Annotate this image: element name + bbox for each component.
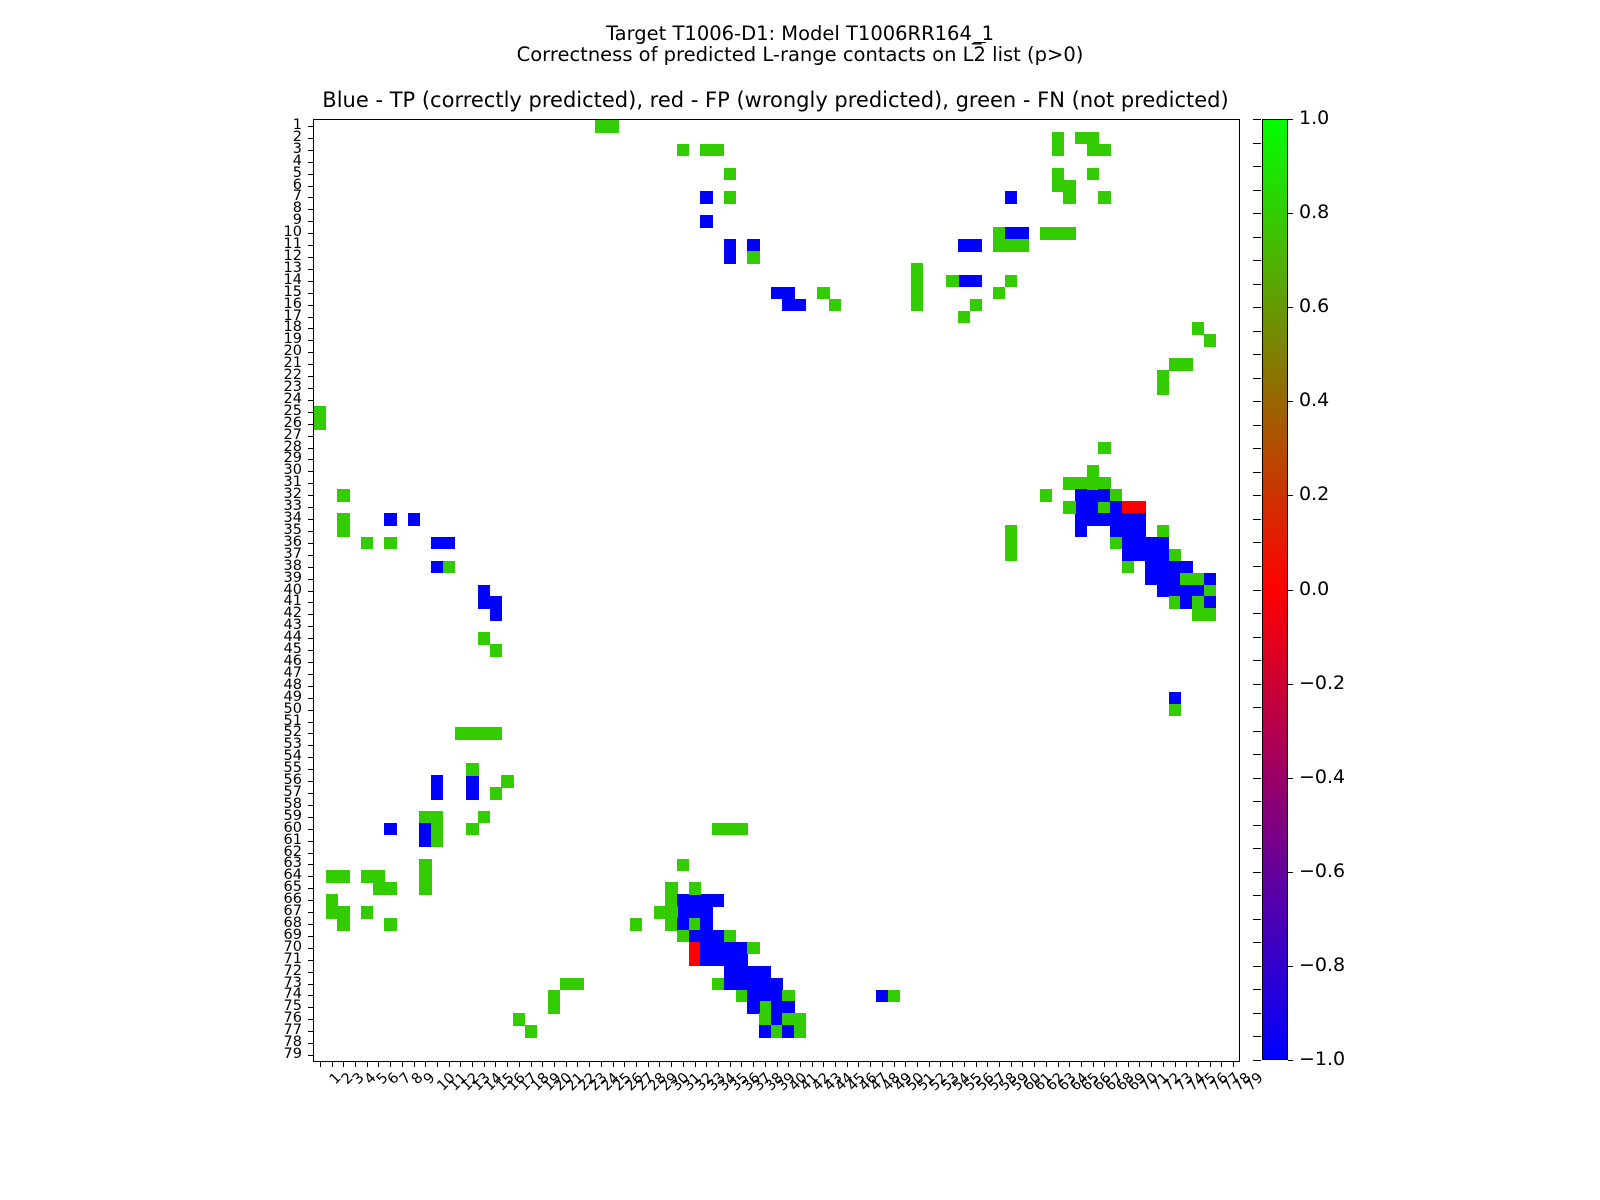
contact-cell [1180,358,1192,371]
x-tick-mark [976,1061,977,1067]
y-tick-mark [308,495,314,496]
contact-cell [759,1001,771,1014]
contact-cell [1110,501,1122,514]
contact-cell [712,954,724,967]
contact-cell [1017,239,1029,252]
contact-cell [595,120,607,133]
contact-cell [361,537,373,550]
x-tick-mark [542,1061,543,1067]
colorbar-minor-tick [1253,613,1261,614]
colorbar-tick-mark [1288,495,1293,496]
x-tick-mark [402,1061,403,1067]
contact-cell [724,942,736,955]
contact-cell [384,513,396,526]
y-tick-mark [308,567,314,568]
colorbar-tick-label: 0.8 [1299,201,1329,223]
x-tick-mark [437,1061,438,1067]
contact-cell [337,513,349,526]
contact-cell [1134,525,1146,538]
x-tick-mark [1034,1061,1035,1067]
colorbar-tick-label: 0.4 [1299,389,1329,411]
y-tick-mark [308,995,314,996]
x-tick-mark [1233,1061,1234,1067]
colorbar-minor-tick [1253,660,1261,661]
y-tick-mark [308,233,314,234]
colorbar-minor-tick [1253,966,1261,967]
colorbar-minor-tick [1253,942,1261,943]
contact-cell [1052,168,1064,181]
contact-cell [466,727,478,740]
y-tick-mark [308,1055,314,1056]
y-tick-mark [308,376,314,377]
x-tick-mark [1163,1061,1164,1067]
contact-cell [700,954,712,967]
contact-cell [1075,132,1087,145]
x-tick-mark [917,1061,918,1067]
x-tick-mark [706,1061,707,1067]
y-tick-mark [308,757,314,758]
contact-cell [1169,704,1181,717]
contact-cell [326,906,338,919]
contact-cell [466,787,478,800]
y-tick-mark [308,722,314,723]
contact-cell [700,906,712,919]
contact-cell [1134,549,1146,562]
contact-cell [1063,227,1075,240]
x-tick-mark [659,1061,660,1067]
contact-map-axes [313,119,1240,1062]
contact-cell [771,287,783,300]
x-tick-mark [1069,1061,1070,1067]
y-tick-label: 79 [0,1046,302,1062]
x-tick-mark [1011,1061,1012,1067]
y-tick-mark [308,591,314,592]
x-tick-mark [1116,1061,1117,1067]
contact-cell [736,990,748,1003]
y-tick-mark [308,162,314,163]
colorbar-minor-tick [1253,237,1261,238]
y-tick-mark [308,305,314,306]
y-tick-mark [308,614,314,615]
y-tick-mark [308,209,314,210]
y-tick-mark [308,698,314,699]
contact-cell [689,894,701,907]
contact-cell [724,251,736,264]
contact-cell [747,239,759,252]
colorbar-minor-tick [1253,590,1261,591]
contact-cell [314,418,326,431]
contact-cell [794,1025,806,1038]
x-tick-mark [940,1061,941,1067]
contact-cell [1052,180,1064,193]
x-tick-mark [320,1061,321,1067]
x-tick-mark [1210,1061,1211,1067]
contact-cell [677,906,689,919]
figure-suptitle-line-2: Correctness of predicted L-range contact… [0,42,1600,67]
colorbar-tick-label: 1.0 [1299,107,1329,129]
contact-cell [1157,382,1169,395]
contact-cell [1157,525,1169,538]
x-tick-mark [765,1061,766,1067]
y-tick-mark [308,436,314,437]
contact-cell [747,990,759,1003]
contact-cell [431,537,443,550]
x-tick-mark [1139,1061,1140,1067]
contact-cell [888,990,900,1003]
contact-cell [993,227,1005,240]
contact-cell [1122,501,1134,514]
contact-cell [1005,275,1017,288]
contact-cell [431,775,443,788]
contact-cell [1040,489,1052,502]
colorbar-minor-tick [1253,401,1261,402]
y-tick-mark [308,519,314,520]
y-tick-mark [308,448,314,449]
contact-cell [1157,370,1169,383]
x-tick-mark [1081,1061,1082,1067]
contact-cell [677,859,689,872]
contact-cell [1087,477,1099,490]
contact-cell [1087,168,1099,181]
colorbar-tick-mark [1288,684,1293,685]
contact-cell [1192,573,1204,586]
x-tick-mark [1058,1061,1059,1067]
contact-cell [478,596,490,609]
contact-cell [759,978,771,991]
y-tick-mark [308,948,314,949]
x-tick-mark [495,1061,496,1067]
x-tick-mark [519,1061,520,1067]
contact-cell [771,1025,783,1038]
x-tick-mark [741,1061,742,1067]
contact-cell [548,1001,560,1014]
contact-cell [1087,132,1099,145]
y-tick-mark [308,1031,314,1032]
contact-cell [490,608,502,621]
contact-cell [876,990,888,1003]
contact-cell [1087,489,1099,502]
x-tick-mark [753,1061,754,1067]
contact-cell [700,894,712,907]
colorbar-minor-tick [1253,331,1261,332]
contact-cell [1134,537,1146,550]
contact-map-figure: Target T1006-D1: Model T1006RR164_1 Corr… [0,0,1600,1200]
x-tick-mark [835,1061,836,1067]
y-tick-mark [308,912,314,913]
contact-cell [724,978,736,991]
x-tick-mark [1093,1061,1094,1067]
contact-cell [689,906,701,919]
y-tick-mark [308,579,314,580]
contact-cell [1122,525,1134,538]
x-tick-mark [1175,1061,1176,1067]
y-tick-mark [308,138,314,139]
colorbar-minor-tick [1253,989,1261,990]
contact-cell [1169,549,1181,562]
contact-cell [1098,489,1110,502]
contact-cell [724,239,736,252]
contact-cell [794,299,806,312]
y-tick-mark [308,459,314,460]
x-tick-mark [355,1061,356,1067]
x-tick-mark [964,1061,965,1067]
y-tick-mark [308,638,314,639]
contact-cell [1040,227,1052,240]
x-tick-mark [636,1061,637,1067]
y-tick-mark [308,710,314,711]
colorbar-tick-label: −0.4 [1299,766,1345,788]
colorbar-minor-tick [1253,119,1261,120]
contact-cell [911,287,923,300]
contact-cell [747,942,759,955]
suptitle-text-pre: Correctness of predicted L-range contact… [517,43,974,66]
contact-cell [478,727,490,740]
contact-cell [1157,537,1169,550]
contact-cell [782,990,794,1003]
y-tick-mark [308,1007,314,1008]
contact-cell [712,894,724,907]
colorbar-tick-mark [1288,213,1293,214]
y-tick-mark [308,281,314,282]
y-tick-mark [308,662,314,663]
colorbar-tick-label: 0.0 [1299,578,1329,600]
y-tick-mark [308,841,314,842]
x-tick-mark [390,1061,391,1067]
x-tick-mark [800,1061,801,1067]
x-tick-mark [1198,1061,1199,1067]
y-tick-mark [308,626,314,627]
contact-cell [771,1013,783,1026]
y-tick-mark [308,650,314,651]
colorbar-tick-label: 0.2 [1299,483,1329,505]
x-tick-mark [367,1061,368,1067]
x-tick-mark [847,1061,848,1067]
colorbar-minor-tick [1253,684,1261,685]
contact-cell [1098,477,1110,490]
contact-cell [466,763,478,776]
contact-cell [1087,465,1099,478]
contact-cell [419,859,431,872]
contact-cell [373,870,385,883]
y-tick-mark [308,424,314,425]
x-tick-mark [812,1061,813,1067]
contact-cell [1204,573,1216,586]
y-tick-mark [308,1019,314,1020]
contact-cell [700,215,712,228]
colorbar-minor-tick [1253,872,1261,873]
x-tick-mark [531,1061,532,1067]
contact-cell [455,727,467,740]
contact-cell [478,585,490,598]
contact-cell [1075,513,1087,526]
contact-cell [665,894,677,907]
contact-cell [1098,442,1110,455]
contact-cell [747,1001,759,1014]
colorbar [1262,119,1288,1060]
contact-cell [1169,561,1181,574]
contact-cell [419,882,431,895]
contact-cell [1169,585,1181,598]
contact-cell [1005,239,1017,252]
contact-cell [1005,227,1017,240]
colorbar-tick-label: −1.0 [1299,1048,1345,1070]
colorbar-minor-tick [1253,566,1261,567]
contact-cell [677,918,689,931]
contact-cell [1204,596,1216,609]
x-tick-mark [332,1061,333,1067]
x-tick-mark [695,1061,696,1067]
contact-cell [1110,537,1122,550]
contact-cell [419,823,431,836]
contact-cell [431,835,443,848]
y-tick-mark [308,531,314,532]
colorbar-tick-mark [1288,966,1293,967]
x-tick-mark [730,1061,731,1067]
contact-cell [630,918,642,931]
contact-cell [490,787,502,800]
x-tick-mark [1128,1061,1129,1067]
contact-cell [1204,608,1216,621]
colorbar-tick-mark [1288,590,1293,591]
contact-cell [326,870,338,883]
contact-cell [1169,596,1181,609]
contact-cell [689,942,701,955]
contact-cell [466,775,478,788]
contact-cell [1204,585,1216,598]
contact-cell [1087,501,1099,514]
x-tick-mark [624,1061,625,1067]
contact-cell [1180,585,1192,598]
y-tick-mark [308,245,314,246]
y-tick-mark [308,900,314,901]
y-tick-mark [308,293,314,294]
colorbar-tick-label: −0.2 [1299,672,1345,694]
contact-cell [431,787,443,800]
contact-cell [1075,489,1087,502]
contact-cell [1145,573,1157,586]
contact-cell [1063,180,1075,193]
contact-cell [1052,132,1064,145]
contact-cell [1122,549,1134,562]
contact-cell [419,811,431,824]
y-tick-mark [308,972,314,973]
contact-cell [911,263,923,276]
colorbar-minor-tick [1253,354,1261,355]
colorbar-minor-tick [1253,190,1261,191]
y-tick-mark [308,864,314,865]
y-tick-mark [308,686,314,687]
contact-cell [361,870,373,883]
y-tick-mark [308,602,314,603]
colorbar-minor-tick [1253,778,1261,779]
x-tick-mark [683,1061,684,1067]
contact-cell [911,275,923,288]
contact-cell [1192,608,1204,621]
contact-cell [478,632,490,645]
contact-cell [1192,585,1204,598]
contact-cell [794,1013,806,1026]
contact-cell [736,966,748,979]
contact-cell [970,239,982,252]
contact-cell [724,823,736,836]
contact-cell [1110,513,1122,526]
contact-cell [1192,596,1204,609]
contact-cell [724,954,736,967]
contact-cell [1052,227,1064,240]
contact-cell [654,906,666,919]
x-tick-mark [648,1061,649,1067]
colorbar-minor-tick [1253,919,1261,920]
contact-cell [724,191,736,204]
colorbar-minor-tick [1253,731,1261,732]
x-tick-mark [425,1061,426,1067]
y-tick-mark [308,888,314,889]
contact-cell [1052,144,1064,157]
colorbar-minor-tick [1253,707,1261,708]
colorbar-gradient [1262,119,1288,1060]
contact-cell [607,120,619,133]
contact-cell [712,978,724,991]
colorbar-minor-tick [1253,895,1261,896]
y-tick-mark [308,745,314,746]
y-tick-mark [308,793,314,794]
contact-cell [337,489,349,502]
contact-cell [665,918,677,931]
contact-cell [1075,477,1087,490]
contact-cell [993,287,1005,300]
contact-cell [970,275,982,288]
y-tick-mark [308,984,314,985]
colorbar-minor-tick [1253,542,1261,543]
x-tick-mark [577,1061,578,1067]
contact-cell [689,918,701,931]
colorbar-minor-tick [1253,260,1261,261]
contact-cell [1098,191,1110,204]
contact-cell [490,596,502,609]
contact-cell [677,894,689,907]
x-tick-mark [460,1061,461,1067]
x-tick-mark [894,1061,895,1067]
y-tick-mark [308,317,314,318]
contact-cell [384,882,396,895]
y-tick-mark [308,340,314,341]
x-tick-mark [414,1061,415,1067]
contact-cell [747,966,759,979]
contact-cell [712,930,724,943]
contact-cell [1145,561,1157,574]
colorbar-minor-tick [1253,848,1261,849]
y-tick-mark [308,352,314,353]
contact-cell [970,299,982,312]
contact-cell [1157,585,1169,598]
contact-cell [572,978,584,991]
x-tick-mark [788,1061,789,1067]
y-tick-mark [308,388,314,389]
contact-cell [337,906,349,919]
contact-cell [736,942,748,955]
x-tick-mark [554,1061,555,1067]
contact-cell [384,918,396,931]
contact-cell [337,918,349,931]
contact-cell [1180,596,1192,609]
contact-cell [700,942,712,955]
contact-cell [1017,227,1029,240]
colorbar-minor-tick [1253,143,1261,144]
contact-cell [782,1001,794,1014]
contact-cell [724,966,736,979]
contact-cell [560,978,572,991]
y-tick-mark [308,960,314,961]
